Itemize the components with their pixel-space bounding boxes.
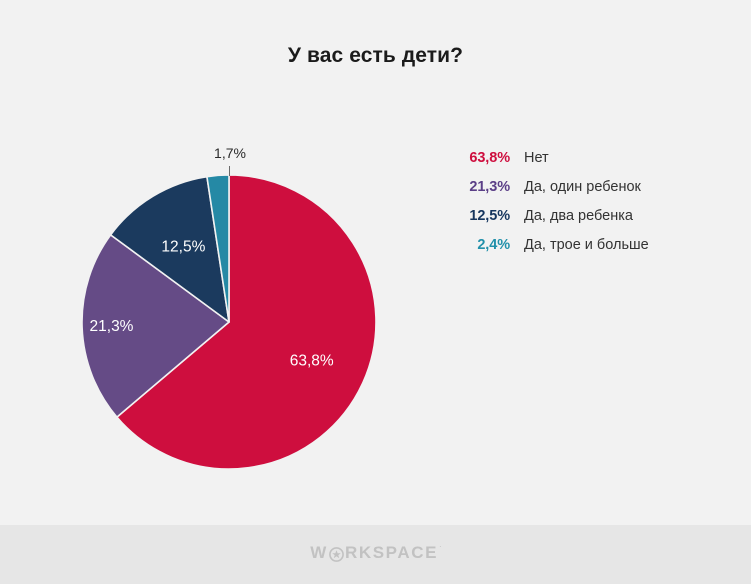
pie-chart: 63,8%21,3%12,5% — [81, 174, 377, 470]
legend-label: Да, трое и больше — [524, 237, 649, 253]
chart-canvas: У вас есть дети? 63,8%21,3%12,5% 1,7% 63… — [0, 0, 751, 584]
pie-slice-callout-leader-line — [229, 166, 230, 176]
pie-slice-data-label: 12,5% — [161, 239, 205, 256]
chart-legend: 63,8% Нет 21,3% Да, один ребенок 12,5% Д… — [458, 150, 708, 266]
legend-percent: 12,5% — [458, 208, 510, 224]
pie-chart-svg: 63,8%21,3%12,5% — [81, 174, 377, 470]
watermark-trademark: · — [439, 537, 442, 557]
legend-percent: 63,8% — [458, 150, 510, 166]
watermark-text-left: W — [310, 543, 328, 563]
legend-label: Да, два ребенка — [524, 208, 633, 224]
watermark-text-right: RKSPACE — [345, 543, 438, 563]
star-in-circle-icon — [329, 547, 344, 562]
pie-slice-data-label: 21,3% — [90, 318, 134, 335]
legend-item-three-or-more[interactable]: 2,4% Да, трое и больше — [458, 237, 708, 266]
pie-slice-data-label: 63,8% — [290, 352, 334, 369]
legend-percent: 21,3% — [458, 179, 510, 195]
legend-label: Да, один ребенок — [524, 179, 641, 195]
page-title: У вас есть дети? — [0, 44, 751, 68]
legend-label: Нет — [524, 150, 549, 166]
legend-item-two-children[interactable]: 12,5% Да, два ребенка — [458, 208, 708, 237]
workspace-watermark: W RKSPACE · — [0, 543, 751, 563]
pie-slice-callout-label: 1,7% — [199, 145, 261, 161]
legend-item-net[interactable]: 63,8% Нет — [458, 150, 708, 179]
legend-percent: 2,4% — [458, 237, 510, 253]
legend-item-one-child[interactable]: 21,3% Да, один ребенок — [458, 179, 708, 208]
